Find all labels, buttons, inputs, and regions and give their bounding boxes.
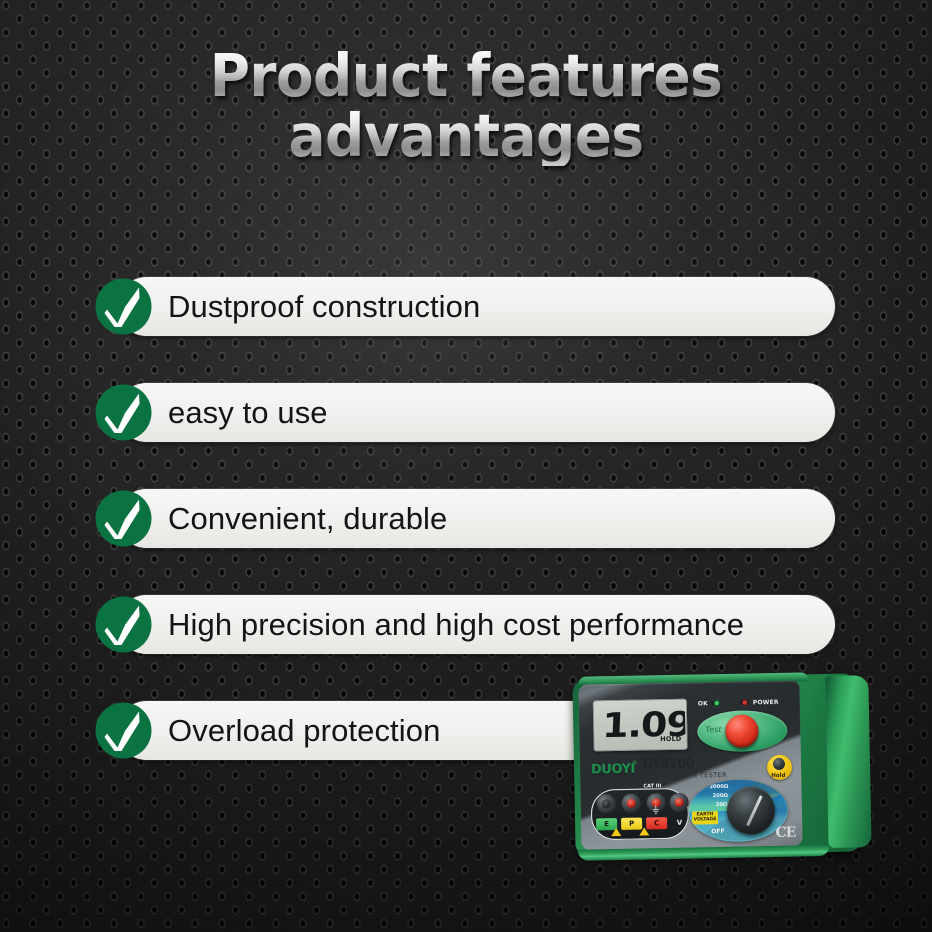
check-circle-icon <box>95 596 152 653</box>
hold-button-label: Hold <box>771 772 785 778</box>
terminal-block: E P C V <box>590 788 689 841</box>
model-number: DY4100 <box>643 757 695 773</box>
registered-trademark-icon: ® <box>632 760 638 767</box>
lcd-screen: 1.09 Ω HOLD <box>595 701 686 750</box>
ok-led-icon <box>711 699 722 707</box>
feature-label: Convenient, durable <box>168 489 447 548</box>
dial-label-20-ohm: 20Ω <box>716 802 728 808</box>
dial-label-2000-ohm: 2000Ω <box>709 784 728 790</box>
terminal-v-label: V <box>669 817 690 829</box>
ce-mark-label: CE <box>775 825 795 841</box>
page-title-line-2: advantages <box>33 106 900 166</box>
device-front-panel: 1.09 Ω HOLD OK POWER Test DUOYI ® <box>578 680 802 849</box>
ok-indicator: OK <box>698 699 722 707</box>
product-image-earth-tester: 1.09 Ω HOLD OK POWER Test DUOYI ® <box>570 669 874 861</box>
list-item[interactable]: High precision and high cost performance <box>95 595 835 654</box>
list-item[interactable]: Dustproof construction <box>95 277 835 336</box>
feature-label: easy to use <box>168 383 328 442</box>
dial-label-off: OFF <box>711 828 724 835</box>
warning-triangle-icon <box>611 828 621 836</box>
power-indicator-label: POWER <box>753 698 779 705</box>
terminal-p[interactable]: P <box>622 794 641 813</box>
feature-label: High precision and high cost performance <box>168 595 744 654</box>
dial-label-200-ohm: 200Ω <box>713 793 728 799</box>
warning-triangle-icon <box>639 827 649 835</box>
check-circle-icon <box>95 490 152 547</box>
terminal-e[interactable]: E <box>597 794 616 813</box>
earth-voltage-line-2: VOLTAGE <box>694 818 717 823</box>
terminal-v[interactable]: V <box>670 793 689 812</box>
brand-logo: DUOYI <box>591 762 635 778</box>
check-circle-icon <box>95 278 152 335</box>
lcd-hold-indicator: HOLD <box>660 735 681 743</box>
device-right-side-casing <box>825 675 871 848</box>
cat-rating-label: CAT III <box>643 783 661 789</box>
lcd-unit-ohm: Ω <box>674 721 680 729</box>
page-title-line-1: Product features <box>33 46 900 106</box>
test-button-label: Test <box>705 725 721 734</box>
rotary-selector-dial[interactable]: 2000Ω 200Ω 20Ω EARTH VOLTAGE OFF <box>688 779 788 843</box>
feature-label: Dustproof construction <box>168 277 480 336</box>
dial-pointer-icon <box>746 795 762 826</box>
check-circle-icon <box>95 702 152 759</box>
power-led-icon <box>739 698 750 706</box>
jack-icon <box>597 794 616 813</box>
jack-icon <box>670 793 689 812</box>
page-title: Product features advantages <box>0 46 932 166</box>
list-item[interactable]: Convenient, durable <box>95 489 835 548</box>
power-indicator: POWER <box>739 698 779 707</box>
hold-button[interactable] <box>773 758 785 770</box>
lcd-bezel: 1.09 Ω HOLD <box>593 699 688 752</box>
test-button[interactable] <box>725 714 759 748</box>
list-item[interactable]: easy to use <box>95 383 835 442</box>
promo-banner: Product features advantages Dustproof co… <box>0 0 932 932</box>
device-description: DIGITAL EARTH TESTER <box>643 771 727 781</box>
test-button-surround[interactable]: Test <box>697 710 788 753</box>
dial-label-earth-voltage: EARTH VOLTAGE <box>692 811 718 824</box>
jack-icon <box>622 794 641 813</box>
check-circle-icon <box>95 384 152 441</box>
feature-label: Overload protection <box>168 701 440 760</box>
hold-button-surround[interactable]: Hold <box>767 755 792 780</box>
ground-symbol-icon <box>652 805 660 817</box>
ok-indicator-label: OK <box>698 700 708 707</box>
